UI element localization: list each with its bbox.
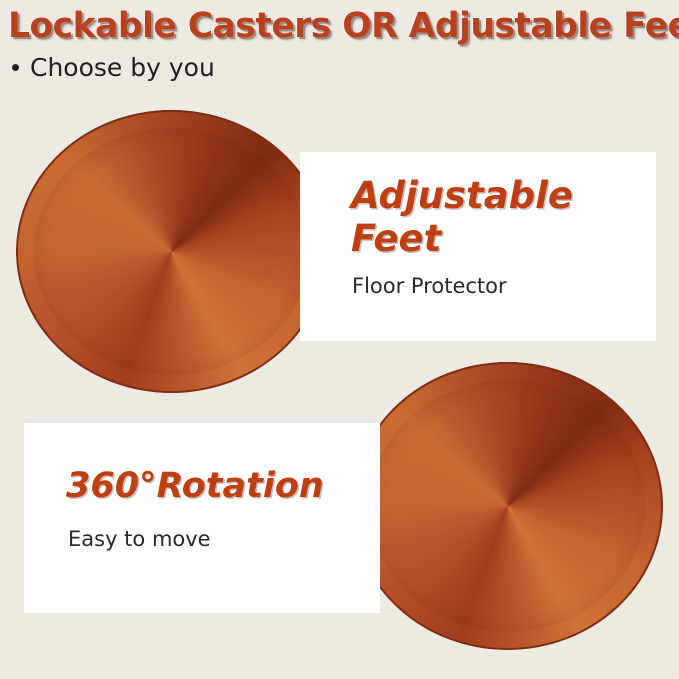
subtitle-text: Choose by you [30, 53, 215, 82]
infographic-canvas: Lockable Casters OR Adjustable Feets Cho… [0, 0, 679, 679]
adjustable-foot-photo-content [16, 110, 327, 393]
caster-wheel-photo: 360° [352, 362, 663, 650]
rotation-degrees-label: 360° [474, 577, 539, 606]
furniture-leg-post [142, 110, 180, 290]
rotation-title: 360°Rotation [66, 465, 324, 508]
adjustable-feet-card: Adjustable Feet Floor Protector [300, 152, 656, 341]
subtitle-bullet-row: Choose by you [12, 53, 215, 82]
bullet-dot-icon [12, 64, 19, 71]
page-title: Lockable Casters OR Adjustable Feets [8, 4, 663, 48]
adjustable-foot-photo [16, 110, 327, 393]
adjustable-feet-title: Adjustable Feet [351, 174, 573, 260]
caster-lock-pin [471, 540, 482, 572]
furniture-leg-post [496, 362, 536, 516]
leg-knob [482, 448, 505, 473]
rotation-subtitle: Easy to move [68, 527, 211, 551]
leg-knob [127, 228, 149, 252]
adjustable-feet-subtitle: Floor Protector [352, 274, 507, 298]
adjustable-foot-pad [132, 308, 188, 340]
rotation-card: 360°Rotation Easy to move [24, 423, 380, 613]
caster-wheel-photo-content: 360° [352, 362, 663, 650]
